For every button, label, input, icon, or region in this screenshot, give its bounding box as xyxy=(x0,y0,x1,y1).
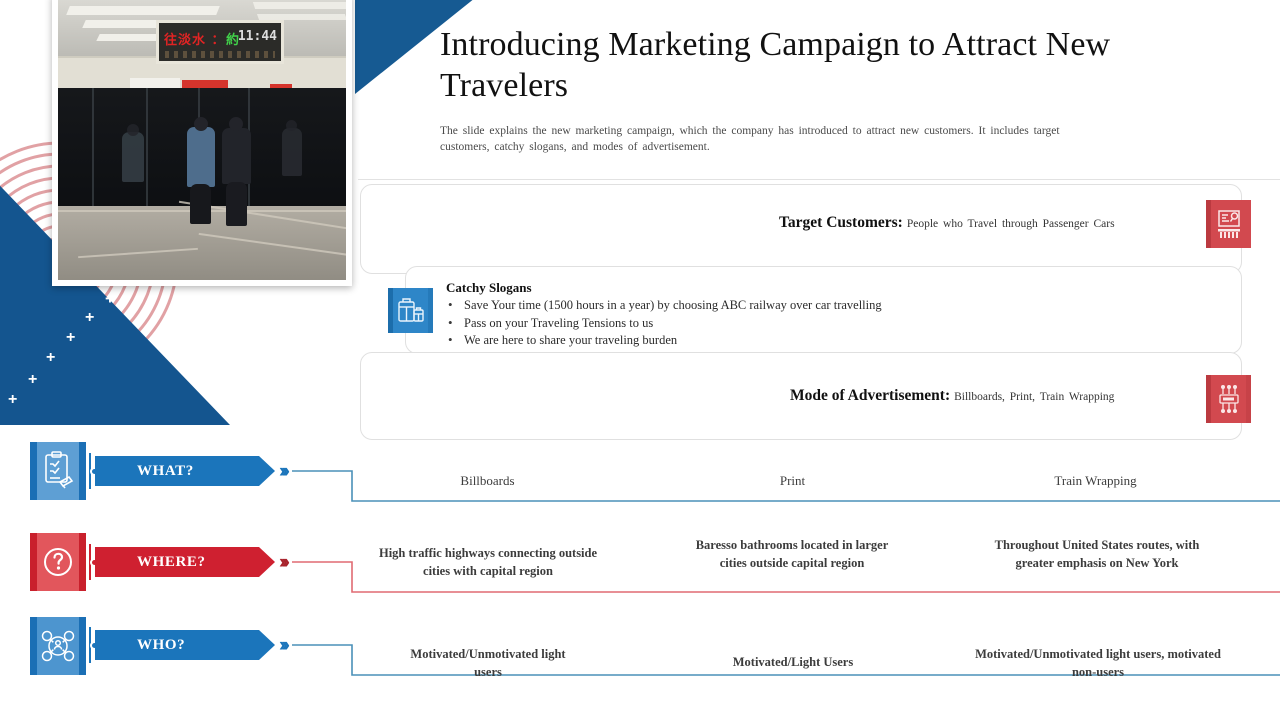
banner-what[interactable]: WHAT? xyxy=(95,456,275,486)
mode-of-advertisement-label: Mode of Advertisement: xyxy=(790,387,950,404)
billboard-icon xyxy=(1206,200,1251,248)
question-mark-icon xyxy=(30,533,86,591)
catchy-slogans-list: Save Your time (1500 hours in a year) by… xyxy=(446,297,882,350)
table-cell-what-2: Print xyxy=(700,472,885,490)
chevron-right-icon: ››› xyxy=(279,552,286,574)
table-cell-where-3: Throughout United States routes, with gr… xyxy=(990,536,1204,572)
clipboard-checklist-icon xyxy=(30,442,86,500)
target-customers-label: Target Customers: xyxy=(779,214,903,231)
table-cell-who-2: Motivated/Light Users xyxy=(700,653,886,671)
banner-where-label: WHERE? xyxy=(137,554,206,571)
slide-root: + + + + + + 往淡水 ： 約 11:44 xyxy=(0,0,1280,720)
banner-where[interactable]: WHERE? xyxy=(95,547,275,577)
table-cell-what-3: Train Wrapping xyxy=(1003,472,1188,490)
plus-decoration-3: + xyxy=(66,330,75,346)
plus-decoration-5: + xyxy=(28,372,37,388)
table-cell-where-2: Baresso bathrooms located in larger citi… xyxy=(688,536,896,572)
table-cell-who-3: Motivated/Unmotivated light users, motiv… xyxy=(968,645,1228,681)
banner-who-label: WHO? xyxy=(137,637,185,654)
banner-what-label: WHAT? xyxy=(137,463,194,480)
target-customers-value: People who Travel through Passenger Cars xyxy=(907,218,1115,230)
people-network-icon xyxy=(30,617,86,675)
luggage-icon xyxy=(388,288,433,333)
table-cell-who-1: Motivated/Unmotivated light users xyxy=(408,645,568,681)
plus-decoration-4: + xyxy=(46,350,55,366)
chevron-right-icon: ››› xyxy=(279,635,286,657)
plus-decoration-6: + xyxy=(8,392,17,408)
train-platform-photo: 往淡水 ： 約 11:44 xyxy=(52,0,352,286)
plus-decoration-1: + xyxy=(105,290,115,307)
mode-of-advertisement-text: Mode of Advertisement: Billboards, Print… xyxy=(790,387,1114,405)
plus-decoration-2: + xyxy=(85,310,94,326)
page-title: Introducing Marketing Campaign to Attrac… xyxy=(440,24,1150,106)
table-cell-where-1: High traffic highways connecting outside… xyxy=(370,544,606,580)
target-customers-text: Target Customers: People who Travel thro… xyxy=(779,214,1115,232)
header-divider xyxy=(358,179,1280,180)
network-diagram-icon xyxy=(1206,375,1251,423)
catchy-slogans-heading: Catchy Slogans xyxy=(446,280,532,296)
list-item: Save Your time (1500 hours in a year) by… xyxy=(446,297,882,315)
page-subtitle: The slide explains the new marketing cam… xyxy=(440,123,1090,155)
chevron-right-icon: ››› xyxy=(279,461,286,483)
mode-of-advertisement-value: Billboards, Print, Train Wrapping xyxy=(954,391,1114,403)
table-cell-what-1: Billboards xyxy=(395,472,580,490)
list-item: We are here to share your traveling burd… xyxy=(446,332,882,350)
list-item: Pass on your Traveling Tensions to us xyxy=(446,315,882,333)
banner-who[interactable]: WHO? xyxy=(95,630,275,660)
